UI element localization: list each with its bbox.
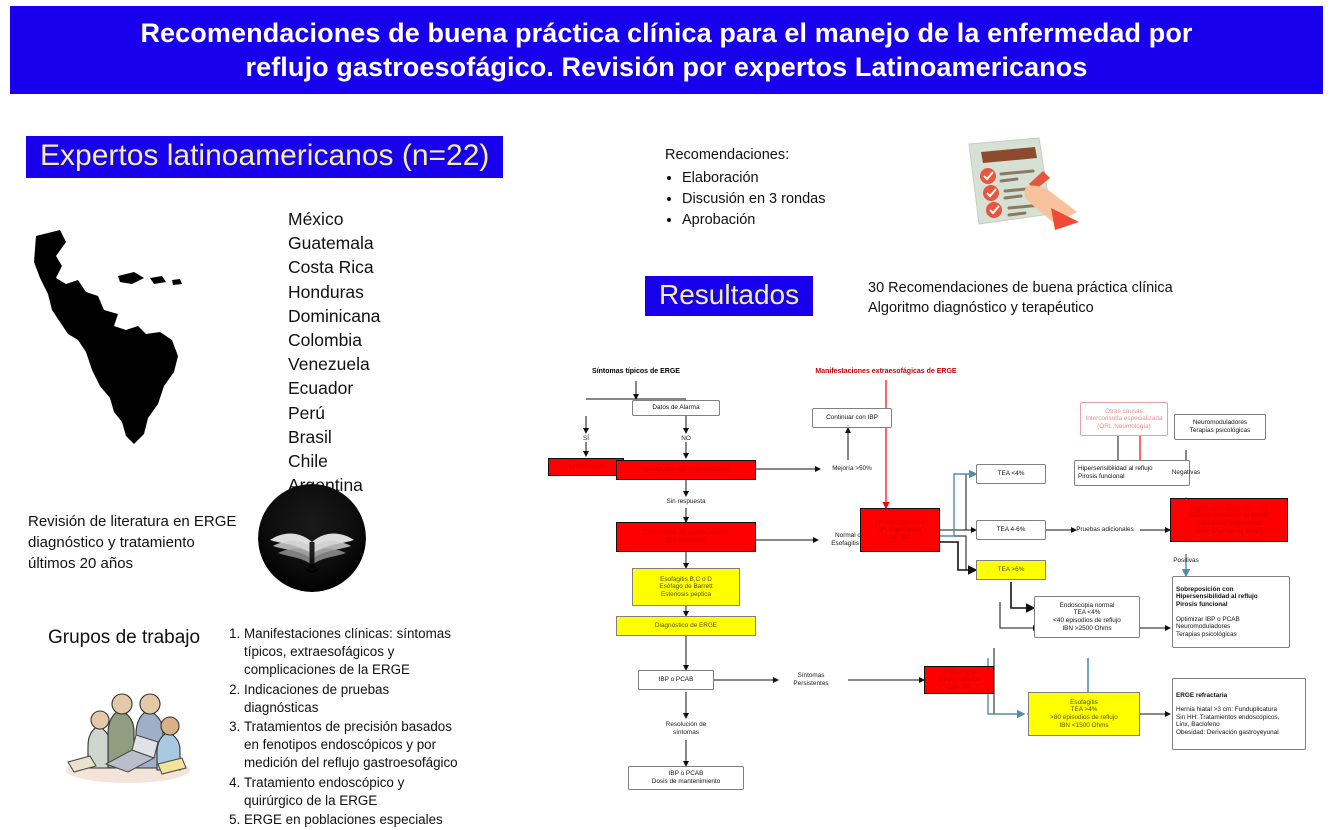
line-1: Normal o (835, 532, 861, 540)
results-summary-line-1: 30 Recomendaciones de buena práctica clí… (868, 278, 1173, 298)
line-5: Neuromoduladores (1176, 623, 1230, 631)
list-item: Perú (288, 401, 380, 425)
line-1: Endoscopia (942, 669, 975, 677)
line-1: Endoscopia sin antisecretores (643, 529, 728, 537)
flow-node-ibp-pcab-mantenimiento: IBP o PCAB Dosis de mantenimiento (628, 766, 744, 790)
line-3: Asociación sintomática (1196, 520, 1261, 528)
clinical-algorithm-flowchart: Síntomas típicos de ERGE Manifestaciones… (528, 358, 1333, 809)
flow-node-resolucion-sintomas: Resolución de síntomas (652, 718, 720, 740)
flow-node-endoscopia: Endoscopia (548, 458, 624, 476)
list-item: Colombia (288, 328, 380, 352)
literature-review-line-2: diagnóstico y tratamiento (28, 532, 236, 553)
line-2: TEA <4% (1074, 609, 1101, 617)
line-2: Número episodios de reflujo (1189, 512, 1269, 520)
list-item: Tratamiento endoscópico y quirúrgico de … (244, 774, 464, 810)
line-4: Optimizar IBP o PCAB (1176, 616, 1240, 624)
latin-america-map-icon (26, 222, 218, 464)
recommendations-block: Recomendaciones: Elaboración Discusión e… (665, 145, 825, 231)
line-1: Esofagitis B,C o D (660, 576, 712, 584)
flow-node-ibp-pcab: IBP o PCAB (638, 670, 714, 690)
list-item: Tratamientos de precisión basados en fen… (244, 718, 464, 773)
results-summary-line-2: Algoritmo diagnóstico y terapéutico (868, 298, 1173, 318)
results-summary-text: 30 Recomendaciones de buena práctica clí… (868, 278, 1173, 318)
list-item: Dominicana (288, 304, 380, 328)
line-3: (ORL,Neumología) (1097, 423, 1151, 431)
line-4: Obesidad: Derivación gastroyeyunal (1176, 729, 1279, 737)
line-1: Síntomas (798, 672, 825, 680)
results-section-chip: Resultados (645, 276, 813, 316)
flow-node-neuromoduladores: Neuromoduladores Terapias psicológicas (1174, 414, 1266, 440)
line-3: >80 episodios de reflujo (1050, 714, 1118, 722)
flow-node-tea-lt4: TEA <4% (976, 464, 1046, 484)
line-3: Con IBP (947, 684, 971, 692)
flow-node-pruebas-adicionales: Pruebas adicionales (1068, 524, 1142, 536)
line-1: Hipersensibilidad al reflujo (1078, 465, 1153, 473)
flow-header-typical: Síntomas típicos de ERGE (570, 366, 702, 378)
line-1: Sobreposición con (1176, 586, 1234, 594)
flow-label-si: SÍ (572, 434, 600, 444)
list-item: Costa Rica (288, 255, 380, 279)
flow-header-extraesophageal: Manifestaciones extraesofágicas de ERGE (790, 366, 982, 378)
line-1: Esofagitis (1070, 699, 1098, 707)
flow-node-endoscopia-normal: Endoscopia normal TEA <4% <40 episodios … (1034, 596, 1140, 638)
line-2: TEA >4% (1071, 706, 1098, 714)
list-item: Elaboración (682, 168, 825, 189)
flow-node-diagnostico-erge: Diagnóstico de ERGE (616, 616, 756, 636)
flow-node-otras-causas: Otras causas Interconsulta especializada… (1080, 402, 1168, 436)
list-item: Venezuela (288, 352, 380, 376)
line-3: Linx, Baclofeno (1176, 721, 1220, 729)
flow-node-sintomas-persistentes: Síntomas Persistentes (778, 670, 844, 690)
flow-node-prueba-ibp: Prueba con IBP (2-8 semanas) (616, 460, 756, 480)
work-team-icon (58, 666, 198, 786)
flow-label-no: NO (672, 434, 700, 444)
experts-section-chip: Expertos latinoamericanos (n=22) (26, 136, 503, 178)
line-1: Resolución de (666, 721, 707, 729)
list-item: Aprobación (682, 210, 825, 231)
checklist-clipboard-icon (955, 136, 1080, 231)
list-item: Guatemala (288, 231, 380, 255)
line-1: Neuromoduladores (1193, 419, 1247, 427)
line-2: síntomas (673, 729, 699, 737)
flow-node-datos-alarma: Datos de Alarma (632, 400, 720, 416)
line-4: MAR (Puntaje de Milan) (1195, 528, 1263, 536)
poster-title-line-2: reflujo gastroesofágico. Revisión por ex… (245, 50, 1087, 84)
line-3: Estenosis péptica (661, 591, 711, 599)
line-1: pH con cápsula o (875, 519, 924, 527)
flow-node-impedancia-basal: Impedancia basal nocturna Número episodi… (1170, 498, 1288, 542)
line-1: Impedancia basal nocturna (1191, 505, 1268, 513)
line-2: Interconsulta especializada (1085, 415, 1162, 423)
line-1: IBP o PCAB (669, 770, 704, 778)
line-3: Pirosis funcional (1176, 601, 1228, 609)
line-2: pH-Impedancia (878, 526, 921, 534)
list-item: Brasil (288, 425, 380, 449)
poster-title-banner: Recomendaciones de buena práctica clínic… (10, 6, 1323, 94)
list-item: Manifestaciones clínicas: síntomas típic… (244, 625, 464, 680)
line-2: Persistentes (793, 680, 828, 688)
list-item: ERGE en poblaciones especiales (244, 811, 464, 829)
line-3: <40 episodios de reflujo (1053, 617, 1121, 625)
flow-node-ph-capsula-sin-ibp: pH con cápsula o pH-Impedancia Sin IBP (860, 508, 940, 552)
list-item: Chile (288, 449, 380, 473)
list-item: México (288, 207, 380, 231)
workgroups-label: Grupos de trabajo (48, 627, 200, 649)
workgroup-topics-list: Manifestaciones clínicas: síntomas típic… (224, 625, 464, 830)
flow-node-erge-refractaria: ERGE refractaria Hernia hiatal >3 cm: Fu… (1172, 678, 1306, 750)
poster-title-line-1: Recomendaciones de buena práctica clínic… (140, 16, 1192, 50)
line-1: Hernia hiatal >3 cm: Funduplicatura (1176, 706, 1277, 714)
list-item: Honduras (288, 280, 380, 304)
line-6: Terapias psicológicas (1176, 631, 1237, 639)
line-2: (2-4 semanas) (665, 537, 706, 545)
flow-node-endoscopia-ph-con-ibp: Endoscopia pH-Impedancia Con IBP (924, 666, 994, 694)
flow-node-esofagitis-bcd: Esofagitis B,C o D Esófago de Barrett Es… (632, 568, 740, 606)
flow-node-endoscopia-sin-antisecretores: Endoscopia sin antisecretores (2-4 seman… (616, 522, 756, 552)
flow-label-positivas: Positivas (1156, 556, 1216, 566)
list-item: Discusión en 3 rondas (682, 189, 825, 210)
country-list: México Guatemala Costa Rica Honduras Dom… (288, 207, 380, 497)
line-1: Otras causas (1105, 408, 1143, 416)
line-2: pH-Impedancia (937, 676, 980, 684)
line-4: IBN <1500 Ohms (1059, 722, 1108, 730)
flow-node-continuar-ibp: Continuar con IBP (812, 408, 892, 428)
line-2: Dosis de mantenimiento (652, 778, 721, 786)
flow-label-negativas: Negativas (1156, 468, 1216, 478)
flow-node-tea-gt6: TEA >6% (976, 560, 1046, 580)
literature-review-text: Revisión de literatura en ERGE diagnósti… (28, 511, 236, 574)
line-2: Esófago de Barrett (659, 583, 712, 591)
flow-node-sobreposicion: Sobreposición con Hipersensibilidad al r… (1172, 576, 1290, 648)
open-book-icon (258, 484, 366, 592)
flow-label-sin-respuesta: Sin respuesta (650, 497, 722, 507)
literature-review-line-1: Revisión de literatura en ERGE (28, 511, 236, 532)
recommendations-heading: Recomendaciones: (665, 145, 825, 166)
line-2: Pirosis funcional (1078, 473, 1125, 481)
line-4: IBN >2500 Ohms (1062, 625, 1111, 633)
flow-node-mejoria: Mejoría >50% (820, 463, 884, 475)
line-2: Terapias psicológicas (1190, 427, 1251, 435)
flow-node-tea-4-6: TEA 4-6% (976, 520, 1046, 540)
line-3: Sin IBP (889, 534, 910, 542)
line-2: Hipersensibilidad al reflujo (1176, 593, 1258, 601)
list-item: Indicaciones de pruebas diagnósticas (244, 681, 464, 717)
list-item: Ecuador (288, 376, 380, 400)
line-1: Endoscopia normal (1060, 602, 1115, 610)
title: ERGE refractaria (1176, 692, 1227, 700)
flow-node-esofagitis-tea-gt4: Esofagitis TEA >4% >80 episodios de refl… (1028, 692, 1140, 736)
line-2: Sin HH: Tratamientos endoscópicos, (1176, 714, 1279, 722)
literature-review-line-3: últimos 20 años (28, 553, 236, 574)
